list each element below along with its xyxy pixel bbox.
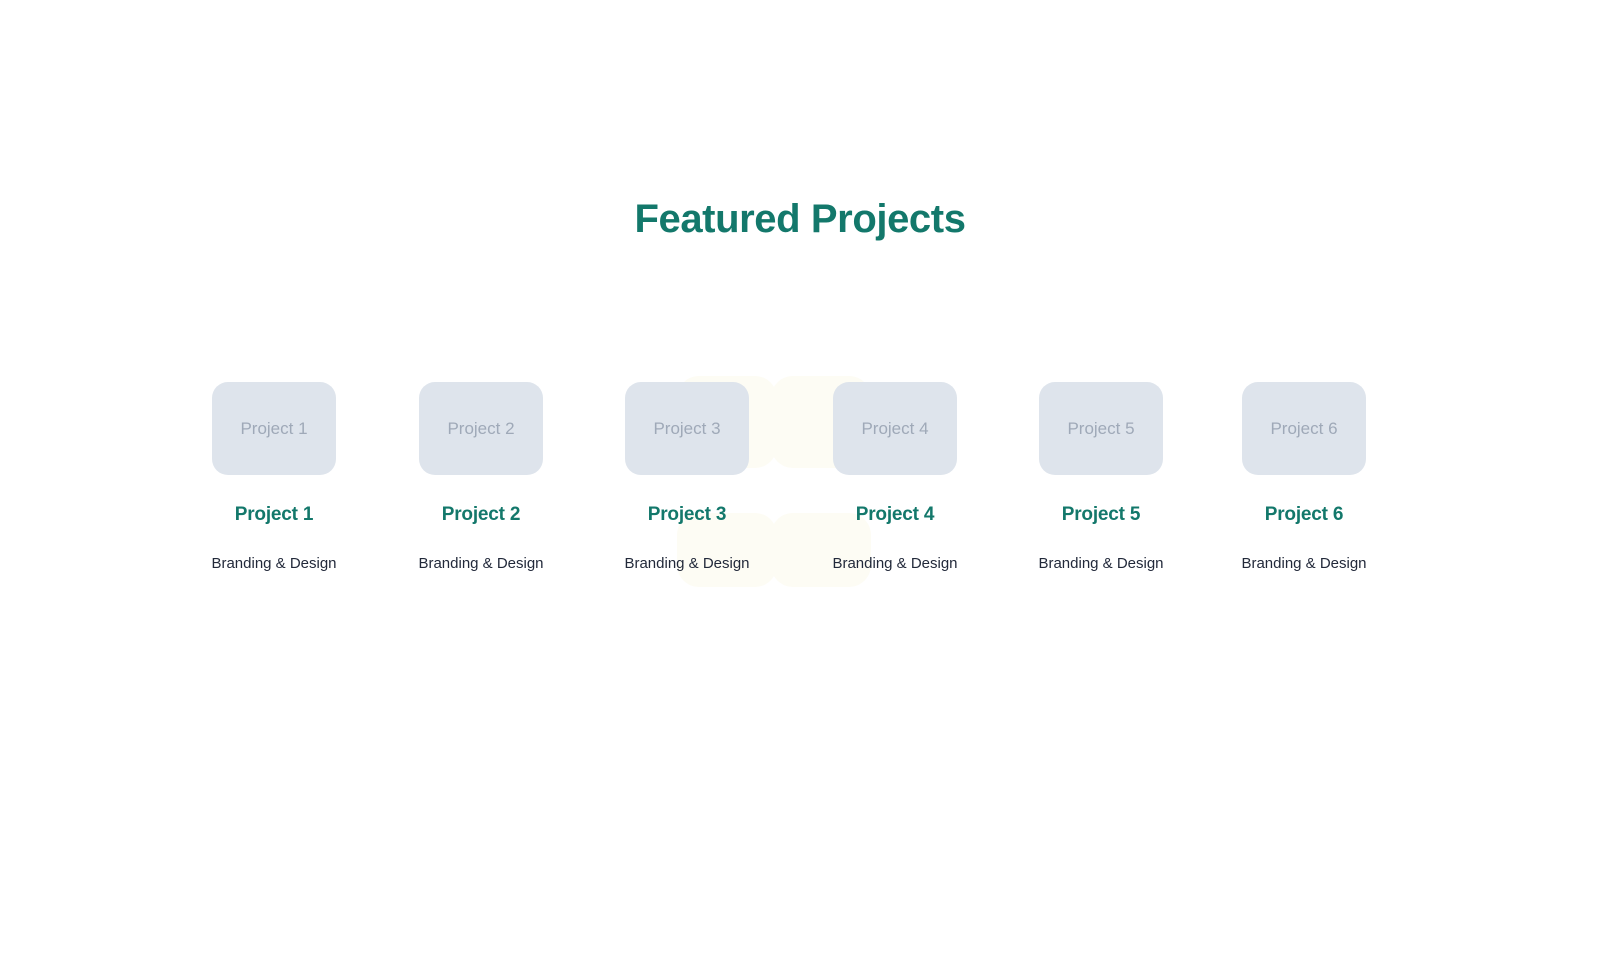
project-thumbnail-label: Project 6 xyxy=(1270,419,1337,439)
page-title: Featured Projects xyxy=(0,192,1600,246)
project-thumbnail-label: Project 5 xyxy=(1067,419,1134,439)
project-category: Branding & Design xyxy=(1017,554,1185,574)
project-thumbnail-placeholder[interactable]: Project 1 xyxy=(212,382,336,475)
project-card-content: Project 1Project 1Branding & Design xyxy=(190,382,358,574)
project-card[interactable]: Project 1Project 1Branding & Design xyxy=(190,376,358,596)
project-category: Branding & Design xyxy=(397,554,565,574)
project-card-content: Project 6Project 6Branding & Design xyxy=(1220,382,1388,574)
project-category: Branding & Design xyxy=(811,554,979,574)
project-thumbnail-placeholder[interactable]: Project 3 xyxy=(625,382,749,475)
project-name[interactable]: Project 2 xyxy=(397,503,565,527)
project-card-content: Project 4Project 4Branding & Design xyxy=(811,382,979,574)
project-card[interactable]: Project 5Project 5Branding & Design xyxy=(1017,376,1185,596)
projects-grid: Project 1Project 1Branding & DesignProje… xyxy=(190,376,1410,596)
project-thumbnail-label: Project 3 xyxy=(653,419,720,439)
project-name[interactable]: Project 6 xyxy=(1220,503,1388,527)
project-card[interactable]: Project 3Project 3Branding & Design xyxy=(603,376,771,596)
project-name[interactable]: Project 4 xyxy=(811,503,979,527)
project-card[interactable]: Project 2Project 2Branding & Design xyxy=(397,376,565,596)
project-thumbnail-placeholder[interactable]: Project 5 xyxy=(1039,382,1163,475)
project-card-content: Project 3Project 3Branding & Design xyxy=(603,382,771,574)
project-thumbnail-label: Project 4 xyxy=(861,419,928,439)
project-card[interactable]: Project 6Project 6Branding & Design xyxy=(1220,376,1388,596)
project-thumbnail-placeholder[interactable]: Project 4 xyxy=(833,382,957,475)
project-category: Branding & Design xyxy=(190,554,358,574)
project-name[interactable]: Project 3 xyxy=(603,503,771,527)
project-thumbnail-placeholder[interactable]: Project 6 xyxy=(1242,382,1366,475)
project-card-content: Project 5Project 5Branding & Design xyxy=(1017,382,1185,574)
project-thumbnail-label: Project 2 xyxy=(447,419,514,439)
project-name[interactable]: Project 1 xyxy=(190,503,358,527)
project-card[interactable]: Project 4Project 4Branding & Design xyxy=(811,376,979,596)
project-name[interactable]: Project 5 xyxy=(1017,503,1185,527)
project-category: Branding & Design xyxy=(1220,554,1388,574)
project-card-content: Project 2Project 2Branding & Design xyxy=(397,382,565,574)
featured-projects-page: Featured Projects Project 1Project 1Bran… xyxy=(0,0,1600,978)
project-thumbnail-placeholder[interactable]: Project 2 xyxy=(419,382,543,475)
project-category: Branding & Design xyxy=(603,554,771,574)
project-thumbnail-label: Project 1 xyxy=(240,419,307,439)
